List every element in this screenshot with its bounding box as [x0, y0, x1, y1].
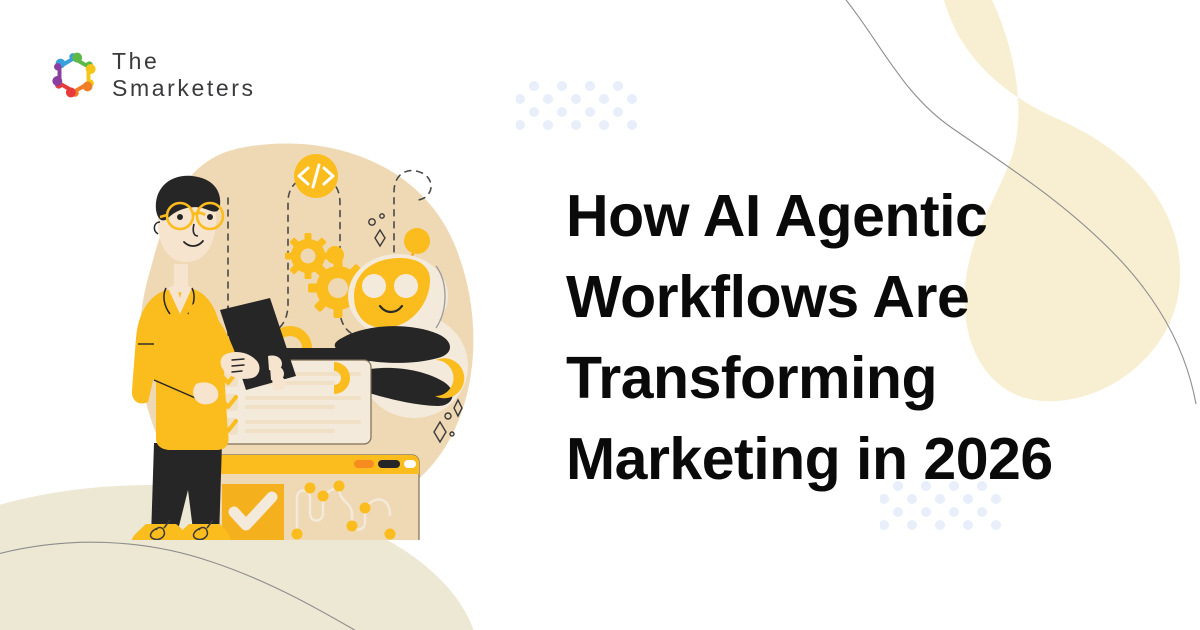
window-control-3 [404, 460, 416, 468]
headline-line-2: Workflows Are [566, 257, 1166, 338]
brand-name-line2: Smarketers [112, 75, 256, 102]
brand-logo[interactable]: The Smarketers [48, 48, 256, 102]
hero-canvas: The Smarketers [0, 0, 1200, 630]
curve-line-bottom-left [0, 542, 372, 630]
brand-name-line1: The [112, 48, 256, 75]
page-title: How AI Agentic Workflows Are Transformin… [566, 176, 1166, 500]
ai-agentic-workflow-illustration [118, 138, 490, 540]
brand-name: The Smarketers [112, 48, 256, 102]
browser-dashboard-window [211, 455, 419, 540]
headline-line-3: Transforming [566, 338, 1166, 419]
code-badge-icon [294, 154, 338, 198]
dot-grid-top [516, 78, 646, 148]
window-control-2 [378, 460, 400, 468]
headline-line-1: How AI Agentic [566, 176, 1166, 257]
smarketers-ring-icon [48, 49, 100, 101]
window-control-1 [354, 460, 374, 468]
gear-dot [326, 246, 344, 264]
headline-line-4: Marketing in 2026 [566, 419, 1166, 500]
